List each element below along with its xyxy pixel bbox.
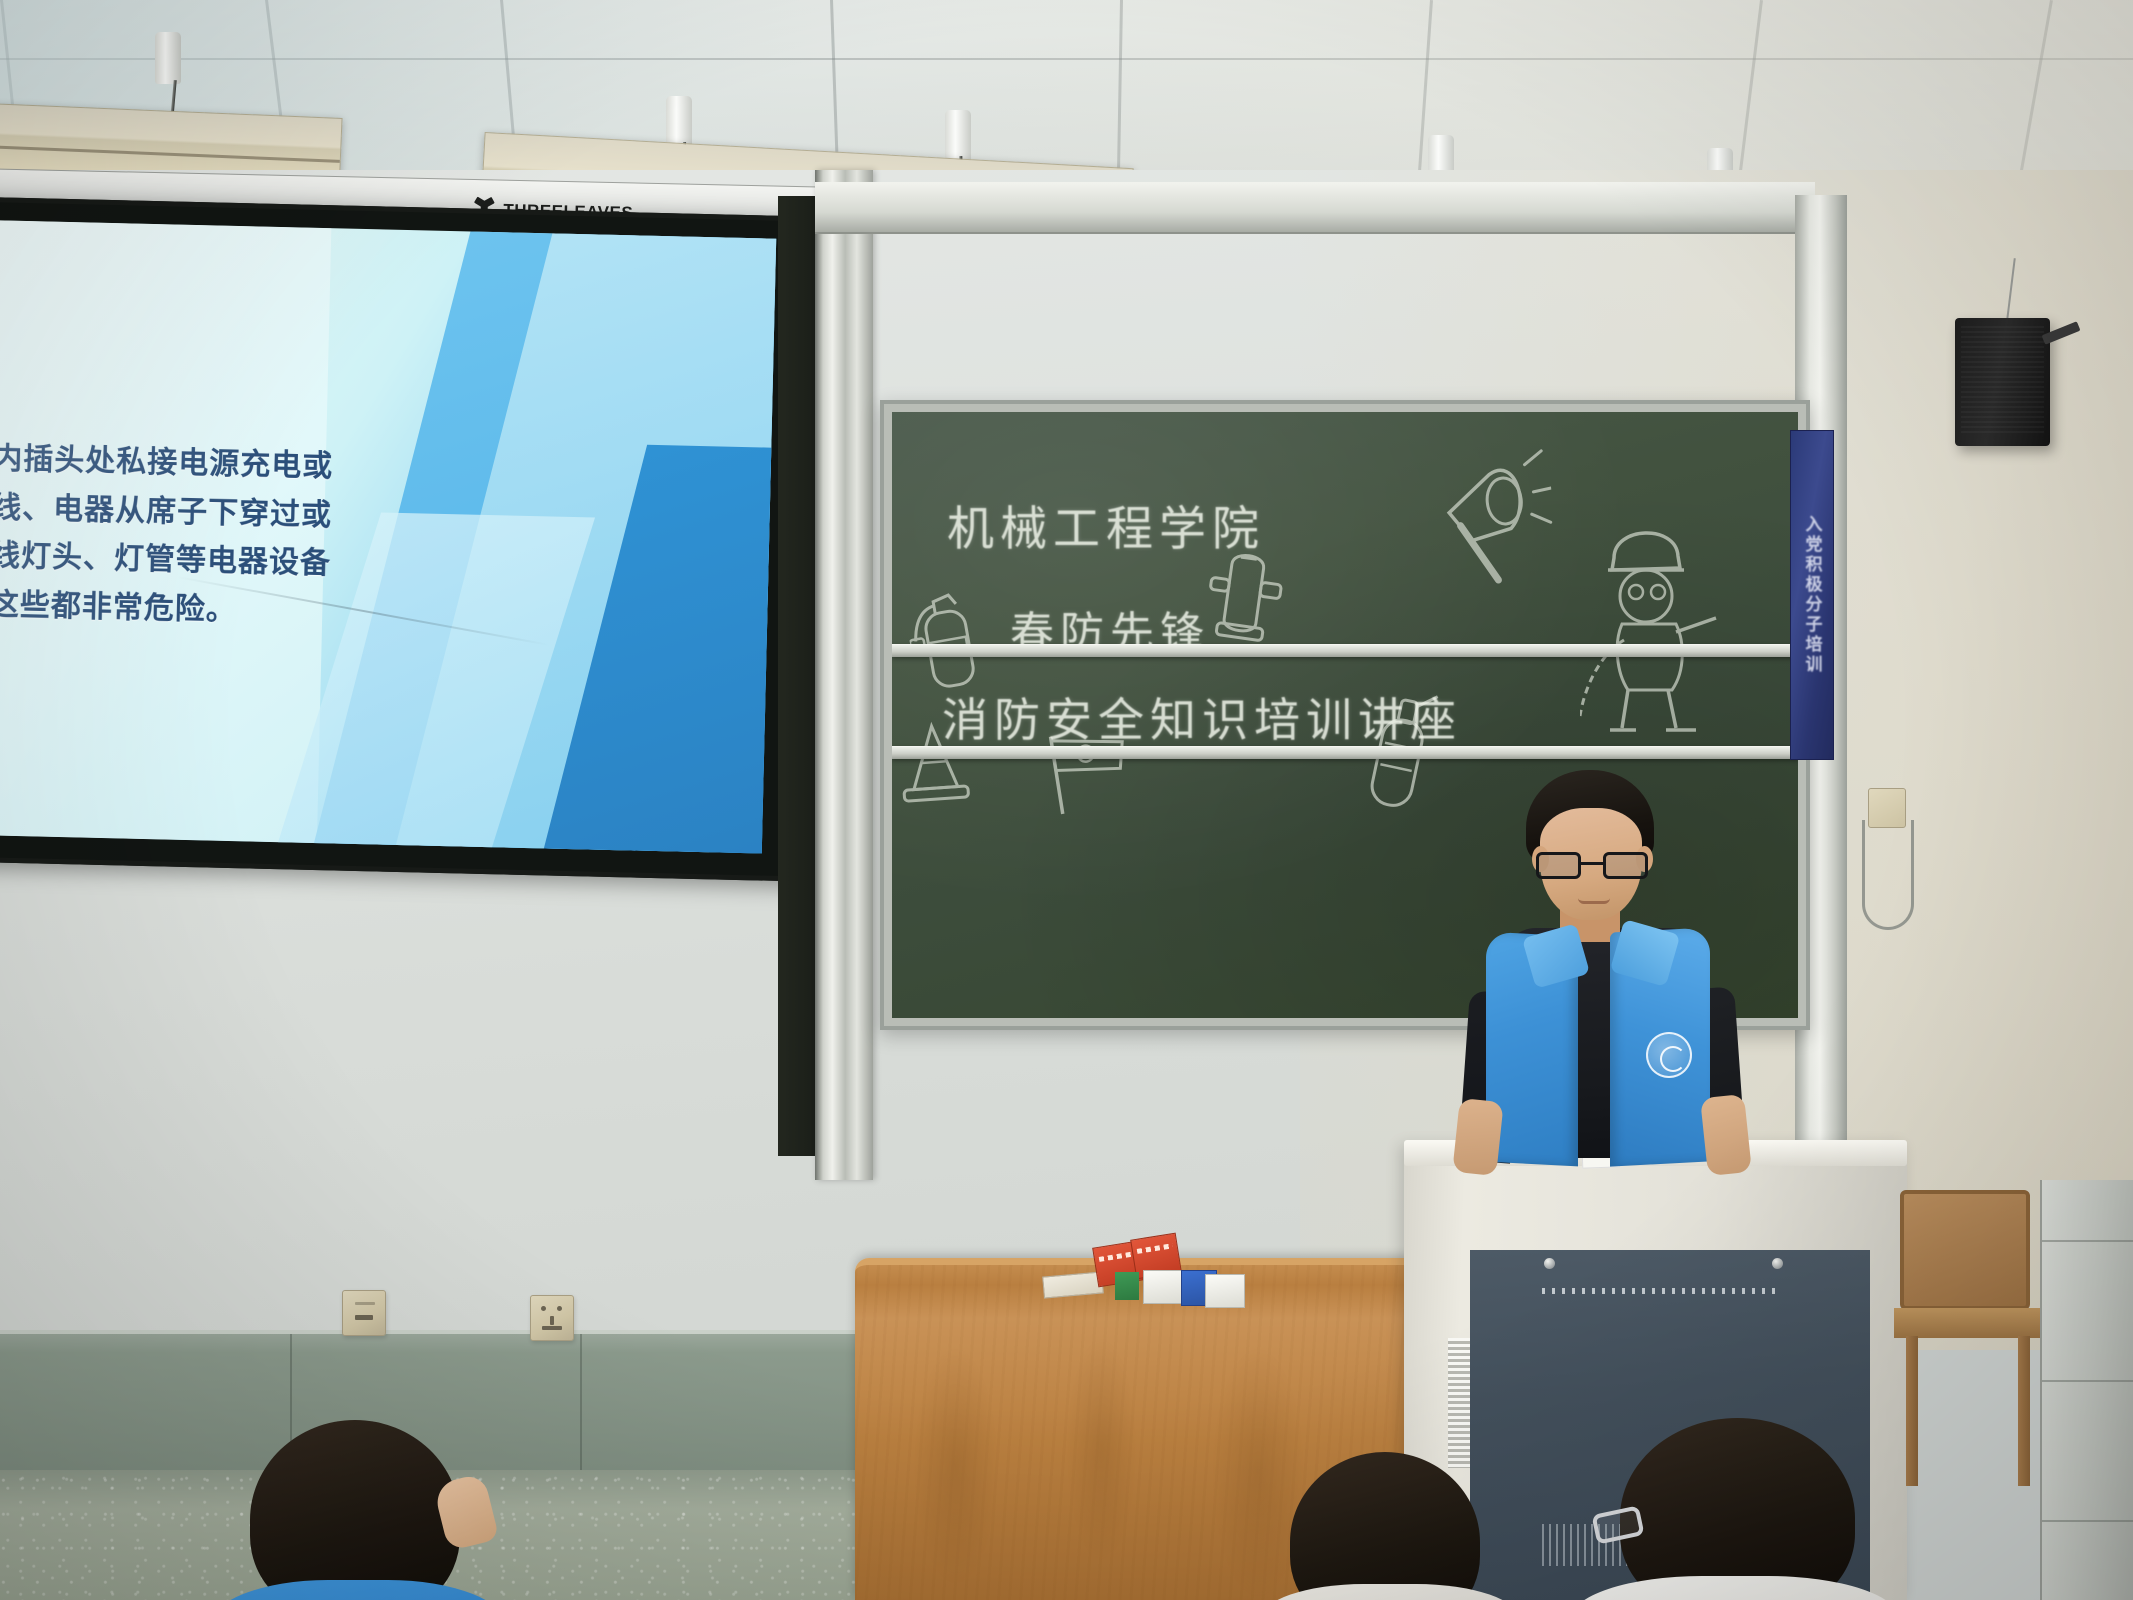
presenter-forearm-left xyxy=(1452,1098,1503,1176)
lamp-mount xyxy=(155,32,181,84)
wall-recess-shadow xyxy=(778,196,820,1156)
student-head xyxy=(1290,1452,1480,1600)
lamp-mount xyxy=(666,96,692,148)
student-shirt xyxy=(208,1580,508,1600)
presenter xyxy=(1440,770,1760,1170)
power-outlet[interactable] xyxy=(342,1290,386,1336)
podium-screw xyxy=(1544,1258,1555,1269)
structural-pillar xyxy=(815,170,873,1180)
slide-body-text: 从室内插头处私接电源充电或 将电线、电器从席子下穿过或 在电线灯头、灯管等电器设… xyxy=(0,434,475,641)
projected-slide: 从室内插头处私接电源充电或 将电线、电器从席子下穿过或 在电线灯头、灯管等电器设… xyxy=(0,219,776,853)
chalk-rail-middle xyxy=(892,644,1798,657)
power-outlet[interactable] xyxy=(530,1295,574,1341)
white-box[interactable] xyxy=(1143,1270,1183,1304)
hanging-cable xyxy=(1862,820,1914,930)
student-head xyxy=(250,1420,460,1600)
eyeglasses-icon xyxy=(1536,852,1648,880)
firefighter-chalk-icon xyxy=(1580,500,1740,736)
header-beam xyxy=(815,182,1815,234)
podium-vent xyxy=(1448,1338,1470,1468)
lamp-mount xyxy=(945,110,971,162)
blackboard-line-3: 消防安全知识培训讲座 xyxy=(942,684,1462,750)
volunteer-emblem-icon xyxy=(1646,1032,1692,1078)
student-center xyxy=(1290,1452,1570,1600)
metal-cabinet-icon xyxy=(2040,1180,2133,1600)
classroom-scene: THREELEAVES 从室内插头处私接电源充电或 将电线、电器从席子下穿过或 … xyxy=(0,0,2133,1600)
podium-led-strip xyxy=(1542,1288,1782,1294)
white-box[interactable] xyxy=(1205,1274,1245,1308)
presenter-forearm-right xyxy=(1700,1094,1752,1176)
banner-text: 入党积极分子培训 xyxy=(1800,515,1825,675)
presenter-mouth xyxy=(1578,898,1610,904)
podium-screw xyxy=(1772,1258,1783,1269)
student-head xyxy=(1620,1418,1855,1600)
chalk-rail-lower xyxy=(892,746,1798,759)
blackboard-line-1: 机械工程学院 xyxy=(947,490,1265,559)
megaphone-chalk-icon xyxy=(1429,446,1562,610)
wall-speaker-icon xyxy=(1955,318,2050,446)
student-shirt xyxy=(1570,1576,1900,1600)
green-box[interactable] xyxy=(1115,1272,1139,1300)
student-front-right xyxy=(1600,1418,1960,1600)
vertical-banner: 入党积极分子培训 xyxy=(1790,430,1834,760)
projection-screen: 从室内插头处私接电源充电或 将电线、电器从席子下穿过或 在电线灯头、灯管等电器设… xyxy=(0,196,820,882)
student-front-left xyxy=(250,1420,580,1600)
